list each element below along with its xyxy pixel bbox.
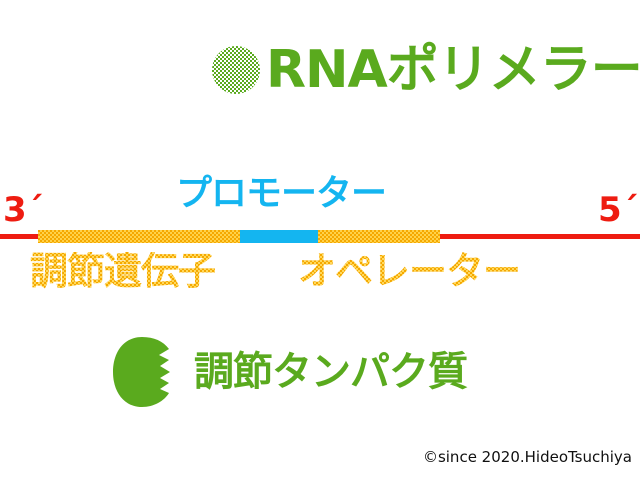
- dna-strand: [0, 230, 640, 244]
- repressor-protein-label: 調節タンパク質: [194, 352, 467, 392]
- repressor-protein-icon: [112, 336, 188, 408]
- dna-backbone-left-segment: [0, 234, 38, 239]
- five-prime-end-label: 5´: [598, 193, 639, 227]
- promoter-segment: [240, 230, 318, 243]
- dna-backbone-right-segment: [440, 234, 640, 239]
- repressor-protein-group: 調節タンパク質: [112, 336, 467, 408]
- legend-rna-polymerase: RNAポリメラーゼ: [212, 44, 640, 96]
- regulator-gene-segment: [38, 230, 240, 243]
- rna-polymerase-circle-icon: [212, 46, 260, 94]
- copyright-notice: ©since 2020.HideoTsuchiya: [423, 448, 632, 466]
- promoter-label: プロモーター: [176, 176, 386, 212]
- diagram-canvas: RNAポリメラーゼ 3´ 5´ プロモーター 調節遺伝子 オペレーター 調節タン…: [0, 0, 640, 480]
- regulator-gene-label: 調節遺伝子: [30, 252, 215, 290]
- three-prime-end-label: 3´: [3, 193, 44, 227]
- operator-label: オペレーター: [298, 252, 520, 290]
- operator-segment: [318, 230, 440, 243]
- rna-polymerase-label: RNAポリメラーゼ: [266, 44, 640, 96]
